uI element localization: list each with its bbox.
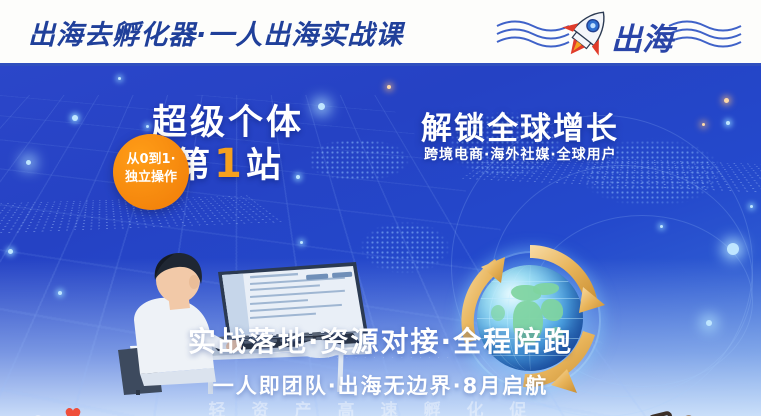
badge-from-zero-to-one: 从0到1· 独立操作 (113, 134, 189, 210)
header-divider (0, 63, 761, 66)
glow-particle-warm (702, 123, 705, 126)
glow-particle (660, 225, 663, 228)
glow-particle (118, 77, 121, 80)
glow-particle (726, 121, 730, 125)
glow-particle (26, 160, 31, 165)
glow-particle (727, 243, 739, 255)
banner-background (0, 65, 761, 416)
station-suffix: 站 (246, 146, 283, 186)
glow-particle (8, 249, 13, 254)
headline-bottom-primary: 实战落地·资源对接·全程陪跑 (0, 320, 761, 360)
landmass-north-america (310, 130, 430, 190)
glow-particle (72, 115, 78, 121)
headline-first-station: 第1站 (175, 137, 283, 188)
glow-particle-warm (387, 85, 391, 89)
brand-logo[interactable]: 出海 (493, 6, 743, 60)
glow-particle (296, 175, 300, 179)
page-title: 出海去孵化器·一人出海实战课 (28, 13, 403, 52)
glow-particle (300, 241, 303, 244)
header-bar: 出海去孵化器·一人出海实战课 (0, 0, 761, 65)
station-number: 1 (212, 141, 246, 187)
badge-line-2: 独立操作 (113, 169, 189, 187)
glow-particle (318, 103, 325, 110)
subheadline-channels: 跨境电商·海外社媒·全球用户 (424, 144, 617, 164)
headline-bottom-secondary: 一人即团队·出海无边界·8月启航 (0, 370, 761, 400)
badge-text: 从0到1· 独立操作 (113, 151, 189, 187)
badge-line-1: 从0到1· (113, 151, 189, 169)
brand-name: 出海 (611, 14, 673, 59)
glow-particle (146, 125, 149, 128)
glow-particle (750, 205, 753, 208)
glow-particle (58, 291, 62, 295)
promo-banner: 超级个体 第1站 从0到1· 独立操作 解锁全球增长 跨境电商·海外社媒·全球用… (0, 0, 761, 416)
glow-particle-warm (724, 98, 729, 103)
headline-unlock-global-growth: 解锁全球增长 (421, 103, 619, 148)
